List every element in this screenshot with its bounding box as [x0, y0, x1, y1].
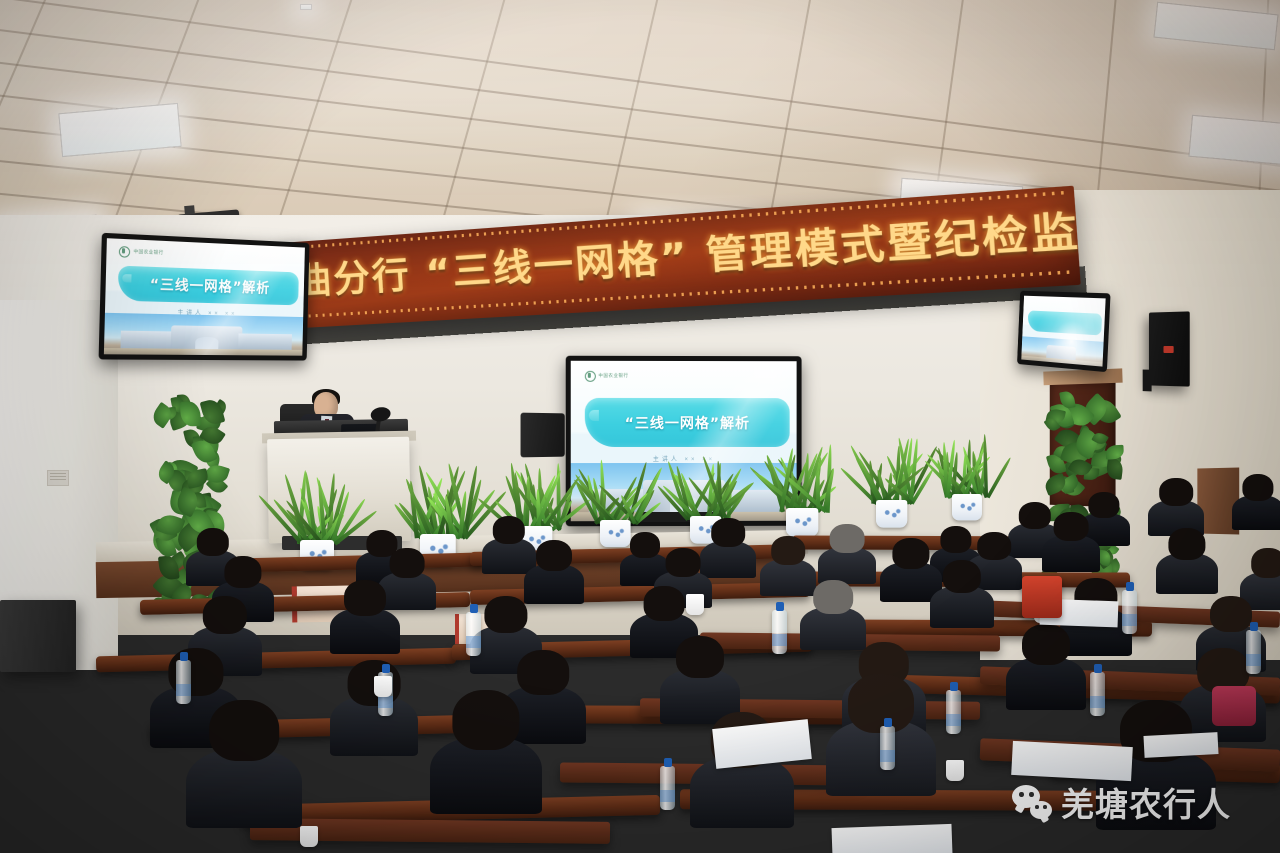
audience-member — [1042, 512, 1100, 572]
abc-logo: 中国农业银行 — [119, 246, 164, 259]
audience-member — [660, 636, 740, 724]
audience-head — [892, 538, 929, 569]
plant-foliage — [587, 457, 643, 524]
building-ground — [104, 348, 303, 356]
slide-band-tab-main — [588, 410, 598, 421]
red-chair-back — [1022, 576, 1062, 618]
wall-vent — [47, 470, 69, 486]
slide-title-main: “三线一网格”解析 — [625, 413, 750, 433]
wechat-eye-3 — [1035, 805, 1039, 809]
plant-foliage — [863, 436, 920, 504]
wechat-eye-1 — [1019, 792, 1024, 797]
water-bottle — [946, 690, 961, 734]
abc-logo-mark — [119, 246, 131, 258]
right-tv-panel — [1021, 296, 1105, 367]
left-wall-tv: 中国农业银行 “三线一网格”解析 主讲人 ×× ×× — [99, 233, 310, 361]
plant-foliage — [405, 461, 470, 539]
watermark-text: 羌塘农行人 — [1061, 778, 1231, 826]
audience-member — [430, 690, 542, 814]
door-frame — [1043, 368, 1122, 385]
slide-left: 中国农业银行 “三线一网格”解析 主讲人 ×× ×× — [104, 238, 305, 355]
wechat-icon — [1012, 785, 1052, 819]
slide-title-band-main: “三线一网格”解析 — [584, 398, 790, 448]
audience-member — [1232, 474, 1280, 530]
water-bottle — [1090, 672, 1105, 716]
audience-head — [203, 596, 247, 634]
audience-head — [1168, 528, 1205, 560]
slide-title-left: “三线一网格”解析 — [150, 274, 271, 298]
wall-speaker-right — [1149, 311, 1190, 386]
plant-foliage — [286, 470, 348, 544]
stage-monitor-speaker — [521, 413, 565, 458]
audience-head — [1054, 512, 1089, 541]
handout-papers — [832, 824, 953, 853]
audience-head — [1159, 478, 1193, 506]
audience-member — [524, 540, 584, 604]
paper-cup — [686, 594, 704, 615]
paper-cup — [300, 826, 318, 847]
audience-head — [493, 516, 525, 544]
slide-title-band-right — [1027, 311, 1102, 336]
handout-papers — [712, 719, 812, 769]
floor-speaker-left — [0, 600, 76, 672]
audience-head — [536, 540, 572, 571]
audience-head — [1022, 624, 1070, 665]
plant-foliage — [677, 452, 734, 520]
water-bottle — [1246, 630, 1261, 674]
audience-head — [1242, 474, 1273, 501]
building-right — [238, 334, 292, 350]
audience-head — [943, 560, 981, 593]
plant-foliage — [773, 442, 832, 512]
paper-cup — [374, 676, 392, 697]
plant-foliage — [940, 432, 995, 497]
porcelain-planter — [952, 494, 982, 520]
wechat-eye-2 — [1029, 792, 1034, 797]
audience-head — [517, 650, 569, 695]
audience-head — [452, 690, 519, 750]
audience-head — [390, 548, 425, 578]
ivy-leaf — [1106, 445, 1124, 460]
water-bottle — [1122, 590, 1137, 634]
audience-head — [848, 674, 914, 733]
handout-papers — [1011, 741, 1133, 781]
paper-cup — [946, 760, 964, 781]
abc-logo-text-main: 中国农业银行 — [598, 373, 628, 379]
audience-head — [209, 700, 279, 761]
slide-building-photo — [104, 312, 303, 355]
audience-head — [224, 556, 261, 588]
water-bottle — [880, 726, 895, 770]
handout-papers — [1143, 732, 1218, 758]
audience-head — [484, 596, 527, 633]
watermark: 羌塘农行人 — [1012, 778, 1231, 826]
building-left — [121, 331, 175, 349]
water-bottle — [772, 610, 787, 654]
abc-logo-main: 中国农业银行 — [584, 370, 628, 381]
conference-room-photo: 曲分行 “三线一网格” 管理模式暨纪检监察业务培训 中国农业银行 “三线一网格”… — [0, 0, 1280, 853]
abc-logo-text: 中国农业银行 — [133, 249, 163, 256]
water-bottle — [660, 766, 675, 810]
water-bottle — [466, 612, 481, 656]
abc-logo-mark-main — [584, 370, 595, 381]
audience-member — [330, 660, 418, 756]
audience-head — [197, 528, 229, 556]
audience-member — [930, 560, 994, 628]
audience-head — [1210, 596, 1252, 632]
audience-head — [644, 586, 685, 621]
plant-leaf — [983, 434, 988, 498]
audience-member — [1006, 624, 1086, 710]
audience-member — [800, 580, 866, 650]
red-garment — [1212, 686, 1256, 726]
right-wall-tv — [1017, 291, 1111, 372]
audience-head — [1251, 548, 1280, 578]
wechat-eye-4 — [1043, 805, 1047, 809]
audience-head — [813, 580, 853, 614]
speaker-mount-arm — [1143, 370, 1152, 392]
wechat-bubble-small — [1030, 801, 1052, 819]
audience-head — [666, 548, 701, 577]
audience-head — [344, 580, 386, 616]
water-bottle — [176, 660, 191, 704]
audience-head — [977, 532, 1011, 560]
audience-member — [186, 700, 302, 828]
slide-title-band: “三线一网格”解析 — [118, 265, 299, 305]
audience-member — [818, 524, 876, 584]
slide-right — [1021, 296, 1105, 367]
slide-building-photo-right — [1021, 337, 1103, 367]
audience-member — [330, 580, 400, 654]
audience-head — [711, 518, 745, 547]
audience-head — [676, 636, 724, 678]
left-tv-panel: 中国农业银行 “三线一网格”解析 主讲人 ×× ×× — [104, 238, 305, 355]
speaker-logo-badge — [1163, 346, 1173, 353]
porcelain-planter — [876, 500, 907, 528]
audience-member — [1156, 528, 1218, 594]
audience-head — [830, 524, 865, 553]
slide-band-tab — [122, 274, 132, 282]
audience-head — [771, 536, 805, 565]
porcelain-planter — [786, 508, 818, 537]
